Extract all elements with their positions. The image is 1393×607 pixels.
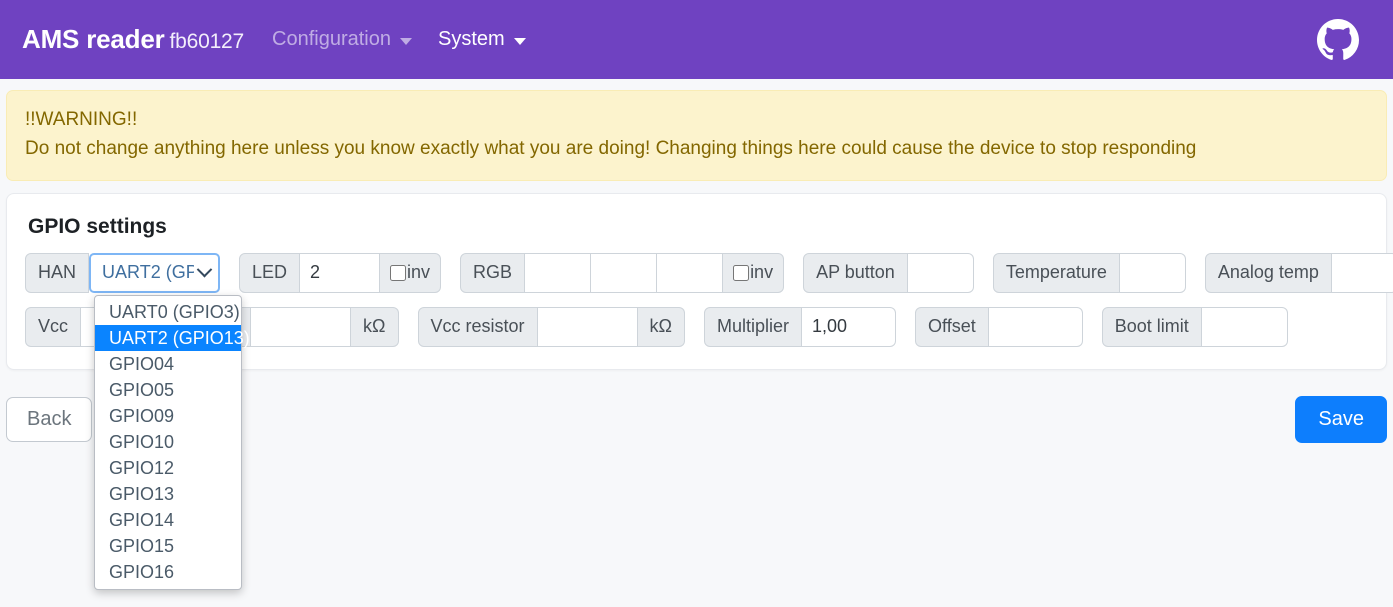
multiplier-label: Multiplier <box>704 307 802 347</box>
temperature-input[interactable] <box>1120 253 1186 293</box>
ap-button-group: AP button <box>803 253 974 293</box>
han-group: HAN UART2 (GP UART0 (GPIO3) UART2 (GPIO1… <box>25 253 220 293</box>
han-select[interactable]: UART2 (GP <box>89 253 220 293</box>
gpio-settings-card: GPIO settings HAN UART2 (GP UART0 (GPIO3… <box>6 193 1387 370</box>
led-inv-checkbox[interactable] <box>390 265 406 281</box>
analog-temp-input[interactable] <box>1332 253 1393 293</box>
han-option-gpio09[interactable]: GPIO09 <box>95 403 241 429</box>
chevron-down-icon <box>197 262 213 278</box>
chevron-down-icon <box>514 38 526 45</box>
brand[interactable]: AMS readerfb60127 <box>22 24 244 55</box>
vcc-resistor-label: Vcc resistor <box>418 307 538 347</box>
ap-button-label: AP button <box>803 253 908 293</box>
offset-group: Offset <box>915 307 1083 347</box>
temperature-group: Temperature <box>993 253 1186 293</box>
temperature-label: Temperature <box>993 253 1120 293</box>
led-group: LED inv <box>239 253 441 293</box>
han-option-gpio16[interactable]: GPIO16 <box>95 559 241 585</box>
han-option-gpio12[interactable]: GPIO12 <box>95 455 241 481</box>
han-option-gpio05[interactable]: GPIO05 <box>95 377 241 403</box>
han-option-gpio15[interactable]: GPIO15 <box>95 533 241 559</box>
vcc-gnd-resistor-unit: kΩ <box>351 307 398 347</box>
nav-item-system[interactable]: System <box>438 28 526 51</box>
gpio-row-1: HAN UART2 (GP UART0 (GPIO3) UART2 (GPIO1… <box>25 253 1368 293</box>
vcc-resistor-input[interactable] <box>538 307 638 347</box>
han-option-gpio14[interactable]: GPIO14 <box>95 507 241 533</box>
han-option-gpio13[interactable]: GPIO13 <box>95 481 241 507</box>
analog-temp-group: Analog temp <box>1205 253 1393 293</box>
led-inv-label: inv <box>407 262 430 283</box>
rgb-red-input[interactable] <box>525 253 591 293</box>
rgb-group: RGB inv <box>460 253 784 293</box>
nav-item-configuration[interactable]: Configuration <box>272 28 412 51</box>
han-option-uart2[interactable]: UART2 (GPIO13) <box>95 325 241 351</box>
han-label: HAN <box>25 253 89 293</box>
vcc-resistor-unit: kΩ <box>638 307 685 347</box>
boot-limit-group: Boot limit <box>1102 307 1288 347</box>
github-icon <box>1317 19 1359 61</box>
ap-button-input[interactable] <box>908 253 974 293</box>
github-link[interactable] <box>1317 19 1359 61</box>
han-select-value: UART2 (GP <box>102 262 194 283</box>
vcc-label: Vcc <box>25 307 81 347</box>
han-select-holder: UART2 (GP UART0 (GPIO3) UART2 (GPIO13) G… <box>89 253 220 293</box>
han-option-gpio10[interactable]: GPIO10 <box>95 429 241 455</box>
multiplier-group: Multiplier <box>704 307 896 347</box>
back-button[interactable]: Back <box>6 397 92 442</box>
rgb-inv-checkbox[interactable] <box>733 265 749 281</box>
vcc-resistor-group: Vcc resistor kΩ <box>418 307 686 347</box>
han-option-uart0[interactable]: UART0 (GPIO3) <box>95 299 241 325</box>
page-title: GPIO settings <box>28 215 1368 239</box>
han-select-dropdown[interactable]: UART0 (GPIO3) UART2 (GPIO13) GPIO04 GPIO… <box>94 295 242 590</box>
chevron-down-icon <box>400 38 412 45</box>
navbar: AMS readerfb60127 Configuration System <box>0 0 1393 79</box>
offset-label: Offset <box>915 307 989 347</box>
multiplier-input[interactable] <box>802 307 896 347</box>
boot-limit-input[interactable] <box>1202 307 1288 347</box>
led-inv-checkbox-wrap[interactable]: inv <box>380 253 441 293</box>
nav-item-system-label: System <box>438 28 505 51</box>
boot-limit-label: Boot limit <box>1102 307 1202 347</box>
warning-alert: !!WARNING!! Do not change anything here … <box>6 90 1387 181</box>
analog-temp-label: Analog temp <box>1205 253 1332 293</box>
han-option-gpio04[interactable]: GPIO04 <box>95 351 241 377</box>
rgb-inv-label: inv <box>750 262 773 283</box>
offset-input[interactable] <box>989 307 1083 347</box>
rgb-label: RGB <box>460 253 525 293</box>
led-input[interactable] <box>300 253 380 293</box>
save-button[interactable]: Save <box>1295 396 1387 443</box>
brand-name: AMS reader <box>22 24 165 54</box>
rgb-blue-input[interactable] <box>657 253 723 293</box>
rgb-green-input[interactable] <box>591 253 657 293</box>
vcc-gnd-resistor-input[interactable] <box>251 307 351 347</box>
rgb-inv-checkbox-wrap[interactable]: inv <box>723 253 784 293</box>
brand-version: fb60127 <box>170 30 245 53</box>
warning-alert-title: !!WARNING!! <box>25 105 1368 134</box>
warning-alert-text: Do not change anything here unless you k… <box>25 134 1368 163</box>
led-label: LED <box>239 253 300 293</box>
nav-item-configuration-label: Configuration <box>272 28 391 51</box>
